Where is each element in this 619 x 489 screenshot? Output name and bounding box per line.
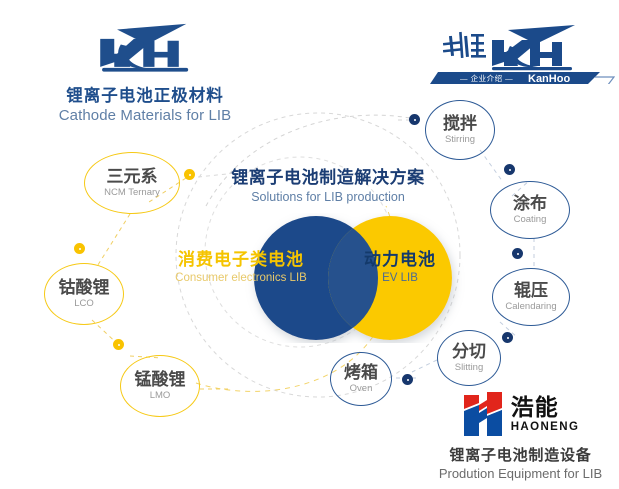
node-lco-cn: 钴酸锂 <box>59 279 110 296</box>
node-lmo[interactable]: 锰酸锂 LMO <box>120 355 200 417</box>
node-lmo-cn: 锰酸锂 <box>135 371 186 388</box>
venn-diagram <box>238 213 468 343</box>
node-lco[interactable]: 钴酸锂 LCO <box>44 263 124 325</box>
connector-dot-yellow-lco <box>74 243 85 254</box>
node-slitting-en: Slitting <box>455 363 484 373</box>
svg-text:— 企业介绍 —: — 企业介绍 — <box>460 73 513 83</box>
node-ncm-ternary[interactable]: 三元系 NCM Ternary <box>84 152 180 214</box>
kh-logo-icon <box>89 22 201 80</box>
brand-haoneng: 浩能 HAONENG 锂离子电池制造设备 Prodution Equipment… <box>428 392 613 481</box>
svg-text:KanHoo: KanHoo <box>528 73 570 84</box>
connector-dot-blue-coating <box>504 164 515 175</box>
infographic-canvas: 消费电子类电池 Consumer electronics LIB 动力电池 EV… <box>0 0 619 489</box>
connector-dot-yellow-ncm <box>184 169 195 180</box>
node-lco-en: LCO <box>74 299 94 309</box>
connector-dot-blue-calendaring <box>512 248 523 259</box>
brand-kh-left-cn: 锂离子电池正极材料 <box>30 87 260 106</box>
brand-kh-left: 锂离子电池正极材料 Cathode Materials for LIB <box>30 22 260 124</box>
node-stirring-en: Stirring <box>445 135 475 145</box>
node-coating-cn: 涂布 <box>513 195 547 212</box>
haoneng-logo-cn: 浩能 <box>511 394 559 420</box>
node-oven-en: Oven <box>350 384 373 394</box>
brand-kh-left-en: Cathode Materials for LIB <box>30 107 260 124</box>
node-slitting[interactable]: 分切 Slitting <box>437 330 501 386</box>
node-coating[interactable]: 涂布 Coating <box>490 181 570 239</box>
node-calendaring[interactable]: 辊压 Calendaring <box>492 268 570 326</box>
node-ncm-cn: 三元系 <box>107 168 158 185</box>
node-coating-en: Coating <box>514 215 547 225</box>
node-slitting-cn: 分切 <box>452 343 486 360</box>
connector-dot-yellow-lmo <box>113 339 124 350</box>
node-lmo-en: LMO <box>150 391 171 401</box>
node-stirring[interactable]: 搅拌 Stirring <box>425 100 495 160</box>
connector-dot-blue-stirring <box>409 114 420 125</box>
node-oven[interactable]: 烤箱 Oven <box>330 352 392 406</box>
haoneng-subtitle-en: Prodution Equipment for LIB <box>428 466 613 481</box>
node-stirring-cn: 搅拌 <box>443 115 477 132</box>
node-ncm-en: NCM Ternary <box>104 188 160 198</box>
brand-kanhoo-top-right: — 企业介绍 — KanHoo <box>430 22 615 84</box>
haoneng-logo-icon <box>462 392 504 438</box>
connector-dot-blue-slitting <box>502 332 513 343</box>
connector-dot-blue-oven <box>402 374 413 385</box>
node-calendaring-cn: 辊压 <box>514 282 548 299</box>
kanhoo-logo-icon: — 企业介绍 — KanHoo <box>430 22 615 84</box>
haoneng-subtitle-cn: 锂离子电池制造设备 <box>428 444 613 465</box>
node-oven-cn: 烤箱 <box>344 364 378 381</box>
node-calendaring-en: Calendaring <box>505 302 556 312</box>
haoneng-logo-en: HAONENG <box>511 422 580 434</box>
